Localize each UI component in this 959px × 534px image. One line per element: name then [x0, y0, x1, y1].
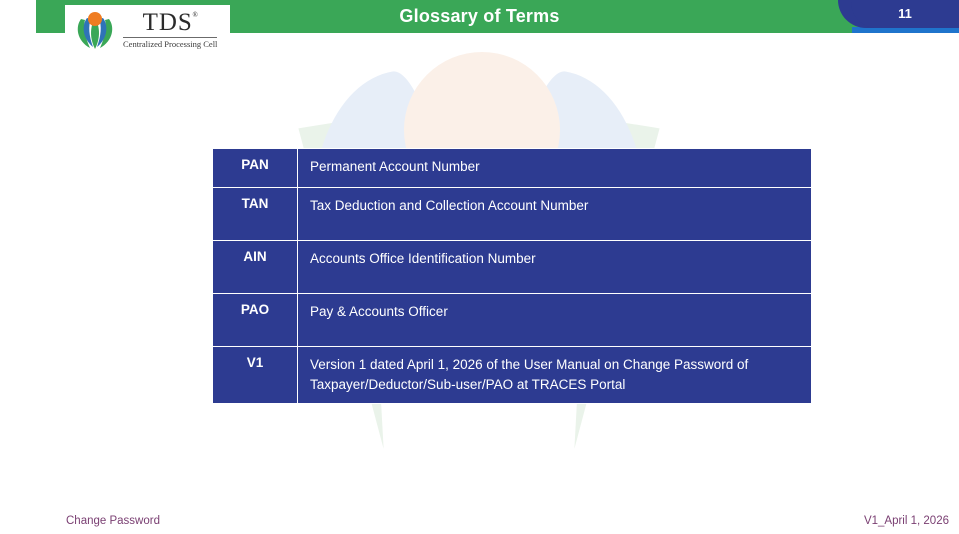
table-row: PAO Pay & Accounts Officer [213, 294, 812, 347]
glossary-table: PAN Permanent Account Number TAN Tax Ded… [212, 148, 812, 404]
footer-right-label: V1_April 1, 2026 [864, 515, 949, 527]
tds-emblem-icon [73, 9, 117, 51]
footer-left-label: Change Password [66, 515, 160, 527]
table-row: AIN Accounts Office Identification Numbe… [213, 241, 812, 294]
glossary-term: PAO [213, 294, 298, 347]
tds-logo: TDS® Centralized Processing Cell [65, 5, 230, 55]
glossary-definition: Accounts Office Identification Number [298, 241, 812, 294]
table-row: TAN Tax Deduction and Collection Account… [213, 188, 812, 241]
glossary-definition: Permanent Account Number [298, 149, 812, 188]
glossary-term: PAN [213, 149, 298, 188]
logo-divider [123, 37, 217, 38]
slide-canvas: 11 Glossary of Terms TDS® Centralized Pr… [0, 0, 959, 534]
glossary-definition: Pay & Accounts Officer [298, 294, 812, 347]
glossary-definition: Tax Deduction and Collection Account Num… [298, 188, 812, 241]
table-row: PAN Permanent Account Number [213, 149, 812, 188]
glossary-definition: Version 1 dated April 1, 2026 of the Use… [298, 347, 812, 404]
glossary-table-body: PAN Permanent Account Number TAN Tax Ded… [213, 149, 812, 404]
tds-wordmark-text: TDS [143, 9, 193, 36]
glossary-term: TAN [213, 188, 298, 241]
tds-wordmark: TDS® [143, 11, 198, 35]
table-row: V1 Version 1 dated April 1, 2026 of the … [213, 347, 812, 404]
registered-mark-icon: ® [193, 12, 199, 19]
glossary-term: AIN [213, 241, 298, 294]
tds-logo-text: TDS® Centralized Processing Cell [123, 11, 217, 49]
tds-tagline: Centralized Processing Cell [123, 39, 217, 49]
glossary-term: V1 [213, 347, 298, 404]
